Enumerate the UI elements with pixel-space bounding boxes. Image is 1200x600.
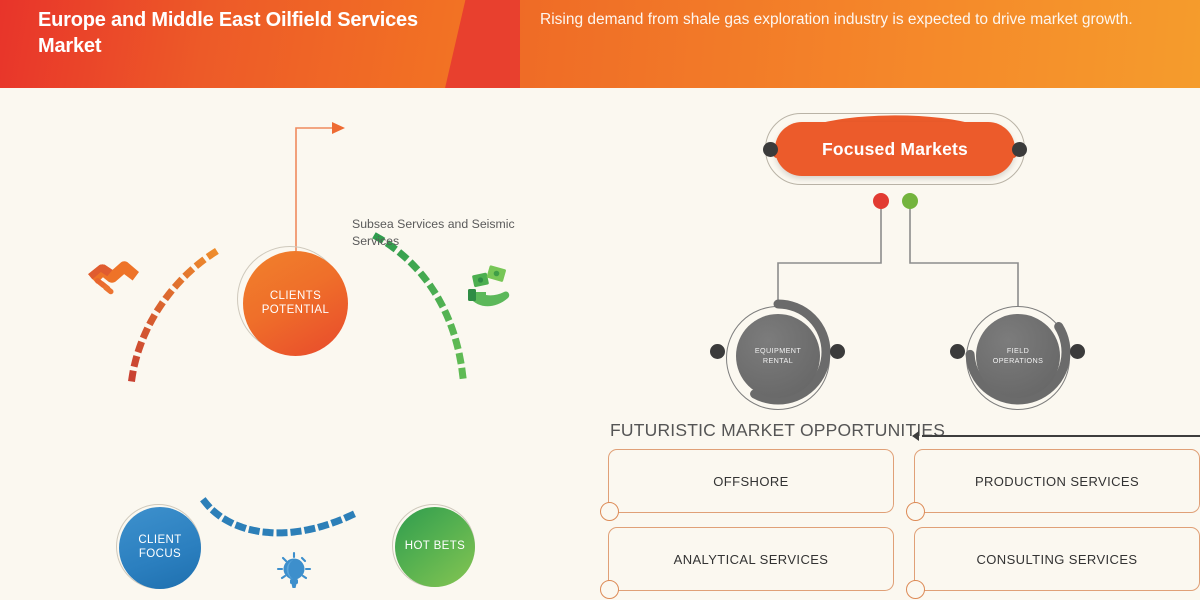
- focused-markets-pill[interactable]: Focused Markets: [775, 122, 1015, 176]
- equipment-rental-right-node: [830, 344, 845, 359]
- page-title: Europe and Middle East Oilfield Services…: [38, 8, 438, 59]
- card-consulting-services-knob-icon: [906, 580, 925, 599]
- field-operations-label: FIELD OPERATIONS: [976, 314, 1060, 398]
- card-offshore[interactable]: OFFSHORE: [608, 449, 894, 513]
- card-analytical-services-label: ANALYTICAL SERVICES: [674, 552, 829, 567]
- leader-line-subsea: [296, 128, 332, 251]
- bubble-client-focus[interactable]: CLIENT FOCUS: [119, 507, 201, 589]
- right-connector-overlay: [600, 188, 1200, 448]
- red-dot: [873, 193, 889, 209]
- card-consulting-services-label: CONSULTING SERVICES: [977, 552, 1138, 567]
- card-production-services-knob-icon: [906, 502, 925, 521]
- card-consulting-services[interactable]: CONSULTING SERVICES: [914, 527, 1200, 591]
- field-operations-right-node: [1070, 344, 1085, 359]
- focused-markets-left-node: [763, 142, 778, 157]
- futuristic-rule: [922, 435, 1200, 437]
- bubble-clients-potential[interactable]: CLIENTS POTENTIAL: [243, 251, 348, 356]
- infographic-page: Europe and Middle East Oilfield Services…: [0, 0, 1200, 600]
- field-operations-line2: OPERATIONS: [993, 356, 1044, 365]
- focused-markets-right-node: [1012, 142, 1027, 157]
- header-banner: Europe and Middle East Oilfield Services…: [0, 0, 1200, 88]
- dotted-arc-orange: [132, 248, 222, 378]
- focused-markets-group: Focused Markets: [755, 108, 1035, 188]
- lightbulb-icon: [278, 553, 310, 588]
- card-production-services-label: PRODUCTION SERVICES: [975, 474, 1139, 489]
- equipment-rental-left-node: [710, 344, 725, 359]
- green-dot: [902, 193, 918, 209]
- equipment-rental-label: EQUIPMENT RENTAL: [736, 314, 820, 398]
- field-operations-left-node: [950, 344, 965, 359]
- equipment-rental-line1: EQUIPMENT: [755, 346, 801, 355]
- right-diagram-panel: Focused Markets EQUIPMENT RENTAL: [600, 88, 1200, 600]
- futuristic-arrow-icon: [912, 431, 919, 441]
- header-subtitle: Rising demand from shale gas exploration…: [540, 9, 1180, 31]
- card-analytical-services[interactable]: ANALYTICAL SERVICES: [608, 527, 894, 591]
- dotted-arc-green: [377, 237, 463, 378]
- card-offshore-knob-icon: [600, 502, 619, 521]
- field-operations-line1: FIELD: [1007, 346, 1029, 355]
- opportunity-card-grid: OFFSHORE PRODUCTION SERVICES ANALYTICAL …: [608, 449, 1200, 591]
- left-diagram-panel: CLIENTS POTENTIAL CLIENT FOCUS HOT BETS …: [0, 88, 600, 600]
- card-production-services[interactable]: PRODUCTION SERVICES: [914, 449, 1200, 513]
- card-analytical-services-knob-icon: [600, 580, 619, 599]
- equipment-rental-line2: RENTAL: [763, 356, 793, 365]
- futuristic-heading: FUTURISTIC MARKET OPPORTUNITIES: [610, 420, 945, 441]
- handshake-icon: [88, 261, 139, 295]
- card-offshore-label: OFFSHORE: [713, 474, 788, 489]
- leader-arrow-subsea: [332, 122, 345, 134]
- callout-subsea-services: Subsea Services and Seismic Services: [352, 216, 522, 249]
- money-in-hand-icon: [468, 265, 509, 306]
- node-field-operations[interactable]: FIELD OPERATIONS: [962, 300, 1074, 412]
- bubble-hot-bets[interactable]: HOT BETS: [395, 507, 475, 587]
- dotted-arc-blue: [205, 502, 360, 533]
- node-equipment-rental[interactable]: EQUIPMENT RENTAL: [722, 300, 834, 412]
